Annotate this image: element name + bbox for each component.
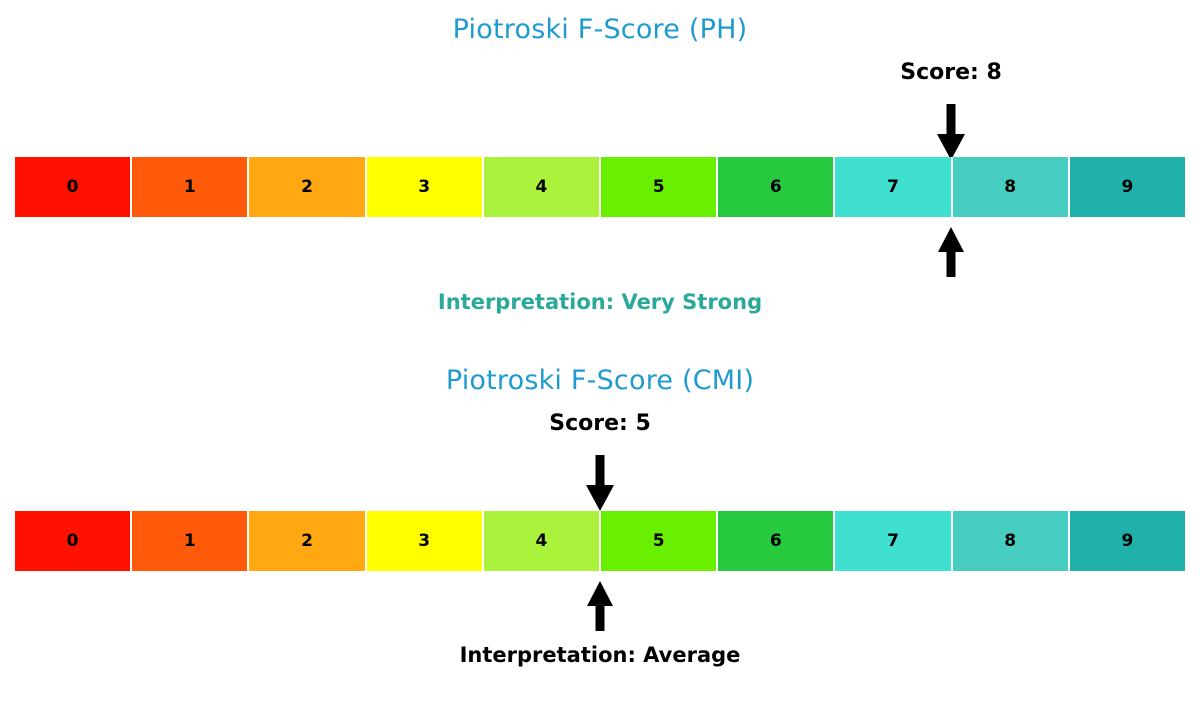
scale-segment-label: 7 bbox=[887, 531, 899, 551]
scale-segment-label: 1 bbox=[184, 177, 196, 197]
scale-segment-label: 8 bbox=[1004, 531, 1016, 551]
scale-segment-label: 0 bbox=[67, 177, 79, 197]
scale-segment-7[interactable]: 7 bbox=[835, 511, 952, 571]
scale-segment-3[interactable]: 3 bbox=[367, 157, 484, 217]
scale-segment-5[interactable]: 5 bbox=[601, 511, 718, 571]
score-label-cmi: Score: 5 bbox=[549, 411, 651, 436]
scale-segment-4[interactable]: 4 bbox=[484, 157, 601, 217]
scale-segment-label: 2 bbox=[301, 531, 313, 551]
score-label-ph: Score: 8 bbox=[900, 60, 1002, 85]
scale-segment-label: 7 bbox=[887, 177, 899, 197]
scale-segment-label: 2 bbox=[301, 177, 313, 197]
scale-segment-7[interactable]: 7 bbox=[835, 157, 952, 217]
score-marker-arrow-up-ph bbox=[931, 227, 971, 277]
scale-segment-label: 4 bbox=[535, 531, 547, 551]
score-marker-arrow-down-cmi bbox=[580, 455, 620, 511]
scale-segment-3[interactable]: 3 bbox=[367, 511, 484, 571]
scale-segment-5[interactable]: 5 bbox=[601, 157, 718, 217]
fscore-panel-cmi: Piotroski F-Score (CMI) Score: 5 0123456… bbox=[0, 351, 1200, 702]
scale-segment-1[interactable]: 1 bbox=[132, 511, 249, 571]
fscore-scale-bar-ph: 0123456789 bbox=[15, 157, 1185, 217]
fscore-panel-ph: Piotroski F-Score (PH) Score: 8 01234567… bbox=[0, 0, 1200, 351]
fscore-scale-bar-cmi: 0123456789 bbox=[15, 511, 1185, 571]
scale-segment-0[interactable]: 0 bbox=[15, 157, 132, 217]
interpretation-label-ph: Interpretation: Very Strong bbox=[438, 290, 762, 314]
scale-segment-label: 5 bbox=[653, 531, 665, 551]
scale-segment-label: 9 bbox=[1122, 177, 1134, 197]
scale-segment-label: 5 bbox=[653, 177, 665, 197]
scale-segment-6[interactable]: 6 bbox=[718, 157, 835, 217]
scale-segment-8[interactable]: 8 bbox=[953, 511, 1070, 571]
chart-title-ph: Piotroski F-Score (PH) bbox=[0, 14, 1200, 45]
scale-segment-2[interactable]: 2 bbox=[249, 511, 366, 571]
scale-segment-label: 8 bbox=[1004, 177, 1016, 197]
scale-segment-label: 6 bbox=[770, 531, 782, 551]
interpretation-label-cmi: Interpretation: Average bbox=[460, 643, 741, 667]
scale-segment-1[interactable]: 1 bbox=[132, 157, 249, 217]
scale-segment-label: 1 bbox=[184, 531, 196, 551]
scale-segment-label: 0 bbox=[67, 531, 79, 551]
score-marker-arrow-up-cmi bbox=[580, 581, 620, 631]
scale-segment-label: 3 bbox=[418, 531, 430, 551]
scale-segment-9[interactable]: 9 bbox=[1070, 511, 1185, 571]
scale-segment-label: 9 bbox=[1122, 531, 1134, 551]
scale-segment-label: 6 bbox=[770, 177, 782, 197]
scale-segment-8[interactable]: 8 bbox=[953, 157, 1070, 217]
scale-segment-0[interactable]: 0 bbox=[15, 511, 132, 571]
scale-segment-6[interactable]: 6 bbox=[718, 511, 835, 571]
scale-segment-label: 4 bbox=[535, 177, 547, 197]
scale-segment-9[interactable]: 9 bbox=[1070, 157, 1185, 217]
scale-segment-label: 3 bbox=[418, 177, 430, 197]
scale-segment-4[interactable]: 4 bbox=[484, 511, 601, 571]
score-marker-arrow-down-ph bbox=[931, 104, 971, 160]
scale-segment-2[interactable]: 2 bbox=[249, 157, 366, 217]
chart-title-cmi: Piotroski F-Score (CMI) bbox=[0, 365, 1200, 396]
